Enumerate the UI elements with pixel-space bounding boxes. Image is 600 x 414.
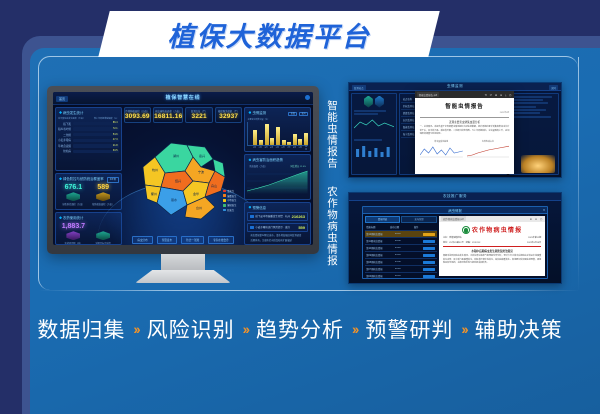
warning-list-title: 预警信息 (247, 205, 308, 210)
insect-monitor-title: 虫情监测 (247, 110, 266, 115)
document-subheading: 水稻中后期病虫发生趋势及防治意见 (443, 249, 541, 253)
svg-text:宁波: 宁波 (198, 169, 204, 174)
xtick: 4月 (270, 146, 274, 151)
legend-label: 偏重发生 (227, 194, 236, 198)
warning-ticker: 病虫情报第12期已发布，请各地加强田间监测调查 近期多雨，注意防范水稻纹枯病扩展… (247, 232, 308, 244)
vertical-label-insect-report: 智能虫情报告 (326, 100, 337, 169)
kpi-value: 16811.16 (154, 113, 182, 120)
document-meta-row2: 地址：XX市XX路XX号 邮编：XXXXXX 2023年6月18日 (443, 241, 541, 244)
province-map[interactable]: 湖州嘉兴 杭州绍兴 宁波丽水 金华台州 舟山衢州 (131, 127, 235, 227)
warning-list: 稻飞虱中等偏重发生预警 · 杭州 216263 小麦赤霉病流行风险提示 · 嘉兴… (247, 212, 308, 232)
table-row[interactable]: 第07期病虫情报 04-28 (365, 266, 437, 273)
legend-item: 重发生 (223, 189, 236, 193)
legend-item: 偏轻发生 (223, 203, 236, 207)
kpi-card: 监测点位（个） 3221 (185, 107, 213, 123)
green-control-stat: 676.1 绿色防控面积（万亩） (60, 184, 87, 206)
kpi-value: 3221 (186, 113, 212, 120)
tab-bulletin-manage[interactable]: 发布管理 (401, 216, 437, 223)
insect-monitor-card: 虫情监测 本周 本月 主要害虫诱集虫量（头） (244, 107, 311, 152)
pest-bar-row: 小麦赤霉病 47.3 (58, 138, 119, 142)
document-date: 2023年6月 (420, 111, 510, 114)
screenshot-pest-bulletin[interactable]: 农技推广服务 病虫情报 ✕ 情报列表 发布管理 情报标题 发布日期 操作 (348, 192, 562, 284)
xtick: 2月 (258, 146, 262, 151)
table-row[interactable]: 第08期病虫情报 05-08 (365, 259, 437, 266)
pdf-tools-icon[interactable]: ⟲ ⟳ ⊕ ⊖ ⤓ ⎙ (485, 93, 513, 97)
legend-label: 轻发生 (227, 208, 234, 212)
table-header-cell: 操作 (414, 225, 436, 229)
legend-item: 轻发生 (223, 208, 236, 212)
pest-bar-track: 72.1 (73, 127, 119, 130)
pest-bar-list: 稻飞虱 86.4 稻纵卷叶螟 72.1 二化螟 54.6 (58, 122, 119, 154)
green-control-stat: 589 统防统治面积（万亩） (90, 184, 117, 206)
kpi-value: 32937 (216, 113, 242, 120)
ticker-line: 近期多雨，注意防范水稻纹枯病扩展蔓延 (250, 238, 305, 242)
insect-chart-sub: 主要害虫诱集虫量（头） (247, 118, 308, 121)
document-chart-left: 诱虫量变化曲线 (420, 140, 463, 163)
cell-date: 06-08 (395, 240, 422, 242)
document-meta-left: 主办：省植保植检站 (443, 236, 462, 239)
insect-bar-chart (247, 122, 308, 146)
dashboard-right-column: 虫情监测 本周 本月 主要害虫诱集虫量（头） (244, 107, 311, 245)
screenshot1-chip-left[interactable]: 监测站点 (352, 85, 366, 90)
pest-bar-track: 63.5 (73, 150, 119, 153)
table-header-row: 情报标题 发布日期 操作 (365, 224, 437, 231)
legend-label: 偏轻发生 (227, 203, 236, 207)
document-heading: 智能虫情报告 (420, 102, 510, 110)
screenshot1-background: 监测站点 虫情监测 实时 (349, 83, 561, 177)
warning-text: 小麦赤霉病流行风险提示 · 嘉兴 (255, 225, 296, 229)
monitor: 首页 植保智慧在线 病虫发生统计 本年度病虫发生面积（万亩） 较上年同期增减幅度… (47, 86, 319, 282)
pest-bar-label: 小麦赤霉病 (58, 138, 71, 142)
dashboard-home-chip[interactable]: 首页 (56, 96, 68, 102)
document-meta-left2: 地址：XX市XX路XX号 邮编：XXXXXX (443, 241, 480, 244)
legend-item: 中等发生 (223, 198, 236, 202)
svg-text:丽水: 丽水 (171, 197, 177, 202)
xtick: 5月 (275, 146, 279, 151)
svg-text:绍兴: 绍兴 (175, 178, 181, 183)
cell-name: 第12期病虫情报 (366, 232, 393, 236)
map-panel[interactable]: 湖州嘉兴 杭州绍兴 宁波丽水 金华台州 舟山衢州 重发生 偏重发生 中等发生 (124, 125, 243, 234)
flow-step-decision-support[interactable]: 辅助决策 (475, 314, 563, 344)
cell-name: 第06期病虫情报 (366, 274, 393, 278)
table-header-cell: 发布日期 (390, 225, 412, 229)
table-row[interactable]: 第12期病虫情报 06-18 (365, 231, 437, 238)
screenshot2-modal[interactable]: 病虫情报 ✕ 情报列表 发布管理 情报标题 发布日期 操作 第12期病虫情报 (362, 206, 549, 280)
pest-bar-label: 稻飞虱 (58, 122, 71, 126)
screenshot2-top-title: 农技推广服务 (443, 194, 467, 199)
cell-date: 05-28 (395, 247, 422, 249)
screenshot2-background: 农技推广服务 病虫情报 ✕ 情报列表 发布管理 情报标题 发布日期 操作 (349, 193, 561, 283)
cell-date: 04-18 (395, 275, 422, 277)
svg-text:杭州: 杭州 (152, 167, 158, 172)
pest-bar-row: 纹枯病 63.5 (58, 149, 119, 153)
close-icon[interactable]: ✕ (543, 208, 546, 212)
screenshot1-left-col (351, 93, 397, 175)
emblem-icon (462, 226, 470, 234)
document-meta-right2: 2023年6月18日 (527, 241, 541, 244)
modal-title: 病虫情报 (448, 208, 462, 213)
pest-bar-row: 稻纵卷叶螟 72.1 (58, 127, 119, 131)
pest-stats-title: 病虫发生统计 (58, 110, 119, 115)
pesticide-stat: 1,883.7 农药使用量（吨） (60, 223, 87, 245)
warning-list-card: 预警信息 稻飞虱中等偏重发生预警 · 杭州 216263 小麦赤霉病流行风险提示… (244, 202, 311, 245)
cell-date: 04-28 (395, 268, 422, 270)
cell-name: 第07期病虫情报 (366, 267, 393, 271)
pdf-page: 农作物病虫情报 主办：省植保植检站 2023年第12期 地址：XX市XX路XX号… (439, 222, 545, 276)
bulletin-table[interactable]: 情报列表 发布管理 情报标题 发布日期 操作 第12期病虫情报 06-18 (365, 216, 437, 277)
status-badge (423, 261, 435, 264)
xtick: 1月 (252, 146, 256, 151)
document-chart-left-title: 诱虫量变化曲线 (420, 140, 463, 143)
document-heading-text: 农作物病虫情报 (472, 228, 522, 234)
document-chart-right: 虫种构成占比 (467, 140, 510, 163)
document-body: 根据当前田间病虫发生情况、水稻生育进程和气象预报综合分析，预计今年水稻中后期病虫… (443, 255, 541, 266)
pdf-filename: 智能虫情报告.pdf (417, 92, 439, 97)
pest-bar-value: 54.6 (113, 133, 118, 136)
status-badge (423, 233, 435, 236)
flow-separator-icon: ›› (352, 321, 357, 337)
warning-list-item[interactable]: 小麦赤霉病流行风险提示 · 嘉兴 559 (247, 223, 308, 232)
legend-label: 中等发生 (227, 198, 236, 202)
pest-bar-track: 21.8 (73, 144, 119, 147)
table-header-cell: 情报标题 (366, 225, 388, 229)
document-charts: 诱虫量变化曲线 虫种构成占比 (420, 140, 510, 163)
pdf-page: 智能虫情报告 2023年6月 近期主要害虫诱集虫量分析 一、总体情况。本报告基于… (415, 98, 515, 174)
cell-name: 第08期病虫情报 (366, 260, 393, 264)
dashboard-title: 植保智慧在线 (166, 94, 201, 101)
kpi-value: 3093.69 (125, 113, 151, 120)
cell-date: 06-18 (395, 233, 422, 235)
warning-icon (250, 226, 253, 229)
pesticide-value: 1,883.7 (60, 223, 87, 230)
pest-bar-track: 86.4 (73, 122, 119, 125)
pesticide-label: 农药使用量（吨） (60, 241, 87, 245)
xtick: 7月 (287, 146, 291, 151)
green-control-label: 绿色防控面积（万亩） (60, 202, 87, 206)
monitor-bezel: 首页 植保智慧在线 病虫发生统计 本年度病虫发生面积（万亩） 较上年同期增减幅度… (47, 86, 319, 254)
svg-text:衢州: 衢州 (151, 191, 157, 196)
xtick: 10月 (304, 146, 308, 151)
cell-date: 05-18 (395, 254, 422, 256)
pest-bar-track: 54.6 (73, 133, 119, 136)
xtick: 6月 (281, 146, 285, 151)
flow-separator-icon: ›› (243, 321, 248, 337)
flow-separator-icon: ›› (133, 321, 138, 337)
green-control-value: 589 (90, 184, 117, 191)
status-badge (423, 247, 435, 250)
warning-value: 559 (298, 225, 305, 230)
cell-name: 第11期病虫情报 (366, 239, 393, 243)
green-control-tag[interactable]: 本年度 (107, 177, 118, 183)
cell-date: 05-08 (395, 261, 422, 263)
monitor-neck (161, 254, 205, 270)
screenshot1-header: 监测站点 虫情监测 实时 (349, 83, 561, 91)
document-meta-right: 2023年第12期 (528, 236, 541, 239)
document-insect-report[interactable]: 智能虫情报告.pdf ⟲ ⟳ ⊕ ⊖ ⤓ ⎙ 智能虫情报告 2023年6月 近期… (415, 91, 515, 174)
page-title: 植保大数据平台 (104, 11, 434, 57)
trend-card: 病虫害防治面积趋势 防治面积（万亩） 同比增长 12.4% (244, 154, 311, 199)
table-row[interactable]: 第11期病虫情报 06-08 (365, 238, 437, 245)
table-row[interactable]: 第10期病虫情报 05-28 (365, 245, 437, 252)
xtick: 3月 (264, 146, 268, 151)
pest-bar-label: 纹枯病 (58, 149, 71, 153)
document-heading: 农作物病虫情报 (443, 225, 541, 234)
pest-bar-row: 草地贪夜蛾 21.8 (58, 144, 119, 148)
modal-body: 情报列表 发布管理 情报标题 发布日期 操作 第12期病虫情报 06-18 (363, 214, 548, 279)
cell-name: 第09期病虫情报 (366, 253, 393, 257)
green-control-title: 绿色防控与统防统治覆盖率 (58, 176, 104, 181)
warning-text: 稻飞虱中等偏重发生预警 · 杭州 (255, 214, 290, 218)
pest-bar-track: 47.3 (73, 139, 119, 142)
monitor-base (135, 270, 231, 283)
user-avatar[interactable] (305, 95, 310, 100)
device-icon (375, 96, 384, 108)
svg-text:湖州: 湖州 (173, 153, 179, 158)
mini-bar-chart (354, 143, 395, 157)
flow-step-data-collection[interactable]: 数据归集 (37, 314, 125, 344)
table-row[interactable]: 第09期病虫情报 05-18 (365, 252, 437, 259)
insect-tab-month[interactable]: 本月 (299, 112, 308, 117)
pest-bar-label: 稻纵卷叶螟 (58, 127, 71, 131)
legend-label: 重发生 (227, 189, 234, 193)
svg-text:金华: 金华 (193, 191, 199, 196)
pest-stats-sub-right: 较上年同期增减幅度（%） (94, 117, 119, 120)
legend-item: 偏重发生 (223, 194, 236, 198)
status-badge (423, 254, 435, 257)
trend-title: 病虫害防治面积趋势 (247, 157, 308, 162)
warm-light-glow (521, 155, 555, 173)
flow-separator-icon: ›› (461, 321, 466, 337)
insect-tab-week[interactable]: 本周 (288, 112, 297, 117)
green-control-value: 676.1 (60, 184, 87, 191)
pdf-toolbar[interactable]: 智能虫情报告.pdf ⟲ ⟳ ⊕ ⊖ ⤓ ⎙ (415, 91, 515, 98)
flow-step-early-warning[interactable]: 预警研判 (365, 314, 453, 344)
pest-bar-value: 86.4 (113, 121, 118, 124)
device-icon (364, 96, 373, 108)
process-flow: 数据归集 ›› 风险识别 ›› 趋势分析 ›› 预警研判 ›› 辅助决策 (0, 306, 600, 352)
trend-area-chart: 防治面积（万亩） 同比增长 12.4% (247, 164, 308, 194)
ticker-line: 病虫情报第12期已发布，请各地加强田间监测调查 (250, 233, 305, 237)
pdf-filename: 农作物病虫情报.pdf (441, 216, 466, 221)
cell-name: 第10期病虫情报 (366, 246, 393, 250)
flow-step-trend-analysis[interactable]: 趋势分析 (256, 314, 344, 344)
table-row[interactable]: 第06期病虫情报 04-18 (365, 273, 437, 279)
pest-bar-value: 21.8 (113, 144, 118, 147)
pest-bar-row: 稻飞虱 86.4 (58, 122, 119, 126)
pest-bar-row: 二化螟 54.6 (58, 133, 119, 137)
dashboard-body: 病虫发生统计 本年度病虫发生面积（万亩） 较上年同期增减幅度（%） 稻飞虱 86… (53, 105, 313, 245)
document-meta-row: 主办：省植保植检站 2023年第12期 (443, 236, 541, 239)
dashboard-header: 首页 植保智慧在线 (53, 92, 313, 105)
warning-icon (250, 215, 253, 218)
modal-header: 病虫情报 ✕ (363, 207, 548, 214)
xtick: 8月 (292, 146, 296, 151)
status-badge (423, 240, 435, 243)
dashboard-center-column: 作物种植面积（万亩） 3093.69 病虫害防治面积（万亩） 16811.16 … (124, 107, 243, 245)
insect-chart-xaxis: 1月 2月 3月 4月 5月 6月 7月 8月 9月 10月 (247, 146, 308, 151)
pest-bar-value: 72.1 (113, 127, 118, 130)
document-subheading: 近期主要害虫诱集虫量分析 (420, 120, 510, 124)
flow-step-risk-identification[interactable]: 风险识别 (147, 314, 235, 344)
svg-text:台州: 台州 (196, 205, 202, 210)
svg-text:舟山: 舟山 (211, 183, 217, 188)
tab-bulletin-list[interactable]: 情报列表 (365, 216, 401, 223)
pest-stats-card: 病虫发生统计 本年度病虫发生面积（万亩） 较上年同期增减幅度（%） 稻飞虱 86… (55, 107, 122, 171)
warning-value: 216263 (292, 214, 305, 219)
screenshot-insect-report[interactable]: 监测站点 虫情监测 实时 (348, 82, 562, 178)
document-chart-right-title: 虫种构成占比 (467, 140, 510, 143)
screenshot1-chip-right[interactable]: 实时 (549, 85, 558, 90)
screenshot1-title: 虫情监测 (447, 84, 463, 89)
status-badge (423, 275, 435, 278)
status-badge (423, 268, 435, 271)
pest-bar-label: 二化螟 (58, 133, 71, 137)
pest-bar-value: 63.5 (113, 149, 118, 152)
screenshot2-header: 农技推广服务 (349, 193, 561, 201)
kpi-strip: 作物种植面积（万亩） 3093.69 病虫害防治面积（万亩） 16811.16 … (124, 107, 243, 123)
dashboard-screen[interactable]: 首页 植保智慧在线 病虫发生统计 本年度病虫发生面积（万亩） 较上年同期增减幅度… (53, 92, 313, 245)
svg-text:嘉兴: 嘉兴 (199, 153, 205, 158)
kpi-card: 植保服务组织（个） 32937 (215, 107, 243, 123)
pest-stats-sub-left: 本年度病虫发生面积（万亩） (58, 117, 85, 120)
map-legend: 重发生 偏重发生 中等发生 偏轻发生 轻发生 (223, 189, 236, 212)
pest-bar-value: 47.3 (113, 138, 118, 141)
kpi-card: 病虫害防治面积（万亩） 16811.16 (153, 107, 183, 123)
pdf-tools-icon[interactable]: ⊕ ⊖ ⎙ (530, 217, 543, 221)
vertical-label-crop-pest-bulletin: 农作物病虫情报 (326, 186, 337, 267)
document-body: 一、总体情况。本报告基于全省智能虫情测报灯自动监测数据，统计周期内累计诱集各类害… (420, 126, 510, 137)
warning-list-item[interactable]: 稻飞虱中等偏重发生预警 · 杭州 216263 (247, 212, 308, 221)
green-control-card: 绿色防控与统防统治覆盖率 本年度 676.1 绿色防控面积（万亩） 589 (55, 173, 122, 210)
pest-bar-label: 草地贪夜蛾 (58, 144, 71, 148)
xtick: 9月 (298, 146, 302, 151)
green-control-stats: 676.1 绿色防控面积（万亩） 589 统防统治面积（万亩） (58, 183, 119, 208)
mini-line-chart (354, 116, 395, 132)
document-pest-bulletin[interactable]: 农作物病虫情报.pdf ⊕ ⊖ ⎙ 农作物病虫情报 主办：省植保植检站 2023… (439, 216, 545, 277)
kpi-card: 作物种植面积（万亩） 3093.69 (124, 107, 152, 123)
